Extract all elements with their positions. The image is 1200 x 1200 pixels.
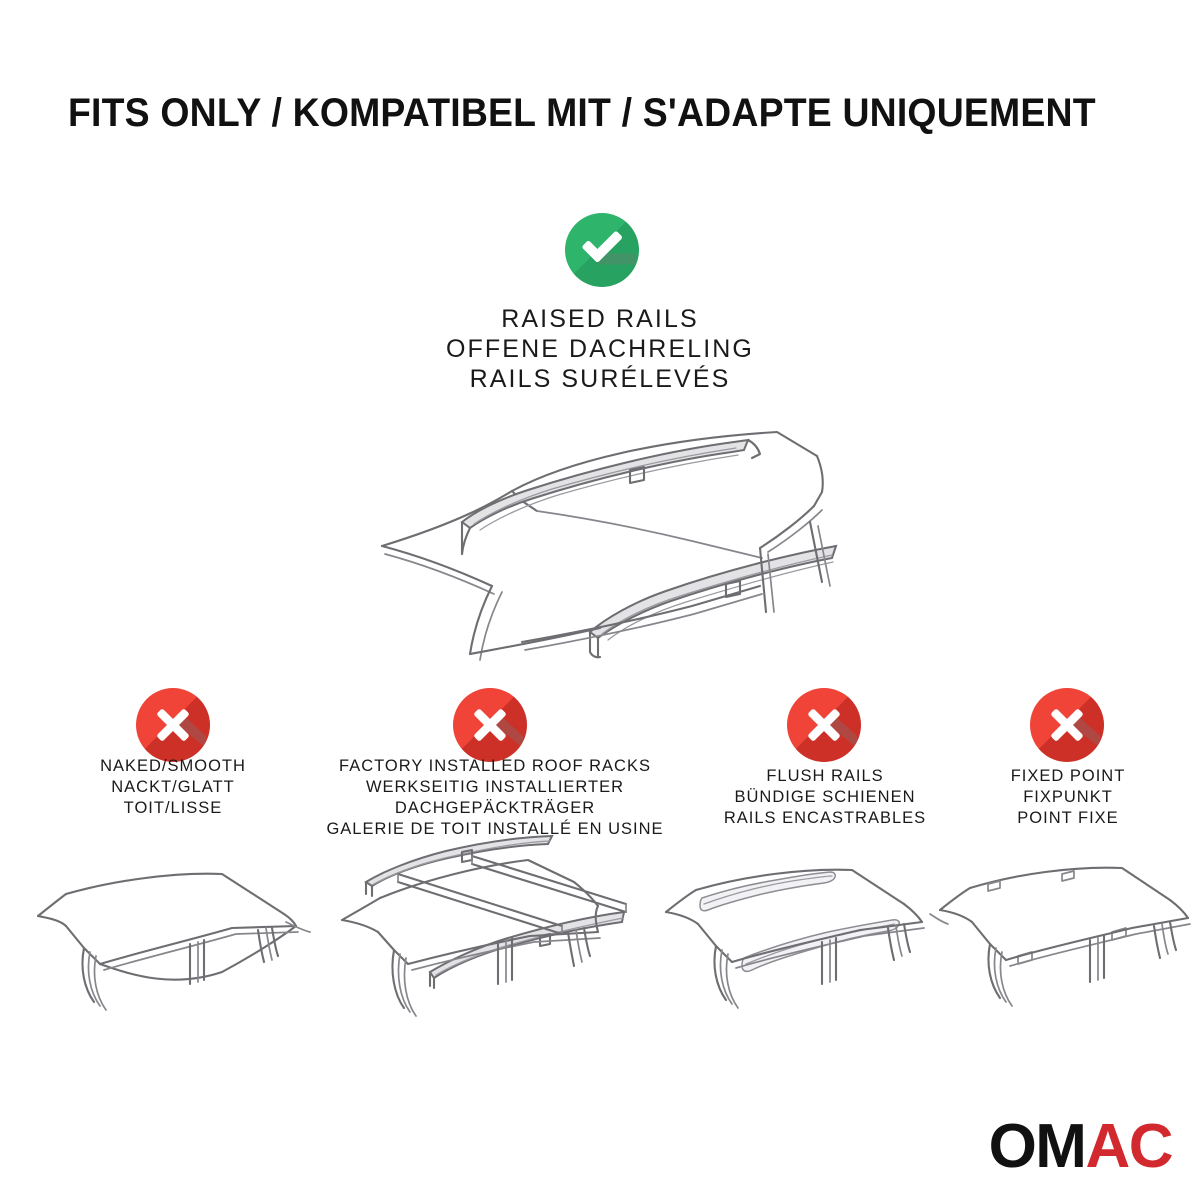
factory-racks-caption: FACTORY INSTALLED ROOF RACKS WERKSEITIG … — [305, 756, 685, 840]
logo-text-accent: AC — [1085, 1112, 1172, 1181]
caption-line: TOIT/LISSE — [43, 798, 303, 819]
x-circle-icon — [787, 688, 861, 762]
check-circle-icon — [565, 213, 639, 287]
car-roof-flush-rails-illustration — [652, 852, 952, 1067]
caption-line: FIXPUNKT — [962, 787, 1174, 808]
flush-rails-caption: FLUSH RAILS BÜNDIGE SCHIENEN RAILS ENCAS… — [692, 766, 958, 829]
naked-smooth-caption: NAKED/SMOOTH NACKT/GLATT TOIT/LISSE — [43, 756, 303, 819]
caption-line: NACKT/GLATT — [43, 777, 303, 798]
x-circle-icon — [136, 688, 210, 762]
caption-line: NAKED/SMOOTH — [43, 756, 303, 777]
car-roof-raised-rails-illustration — [362, 406, 842, 671]
compatibility-infographic: FITS ONLY / KOMPATIBEL MIT / S'ADAPTE UN… — [0, 0, 1200, 1200]
x-circle-icon — [453, 688, 527, 762]
fixed-point-caption: FIXED POINT FIXPUNKT POINT FIXE — [962, 766, 1174, 829]
page-title: FITS ONLY / KOMPATIBEL MIT / S'ADAPTE UN… — [68, 90, 1068, 136]
logo-text-primary: OM — [989, 1112, 1086, 1181]
car-roof-factory-racks-illustration — [312, 832, 652, 1064]
caption-line: WERKSEITIG INSTALLIERTER — [305, 777, 685, 798]
car-roof-fixed-point-illustration — [932, 852, 1200, 1064]
brand-logo: OMAC — [989, 1116, 1172, 1178]
caption-line: RAILS SURÉLEVÉS — [370, 364, 830, 394]
caption-line: DACHGEPÄCKTRÄGER — [305, 798, 685, 819]
caption-line: BÜNDIGE SCHIENEN — [692, 787, 958, 808]
caption-line: POINT FIXE — [962, 808, 1174, 829]
caption-line: FACTORY INSTALLED ROOF RACKS — [305, 756, 685, 777]
caption-line: RAILS ENCASTRABLES — [692, 808, 958, 829]
car-roof-naked-smooth-illustration — [22, 852, 322, 1072]
caption-line: FLUSH RAILS — [692, 766, 958, 787]
compatible-caption: RAISED RAILS OFFENE DACHRELING RAILS SUR… — [370, 304, 830, 394]
caption-line: RAISED RAILS — [370, 304, 830, 334]
x-circle-icon — [1030, 688, 1104, 762]
caption-line: FIXED POINT — [962, 766, 1174, 787]
caption-line: OFFENE DACHRELING — [370, 334, 830, 364]
